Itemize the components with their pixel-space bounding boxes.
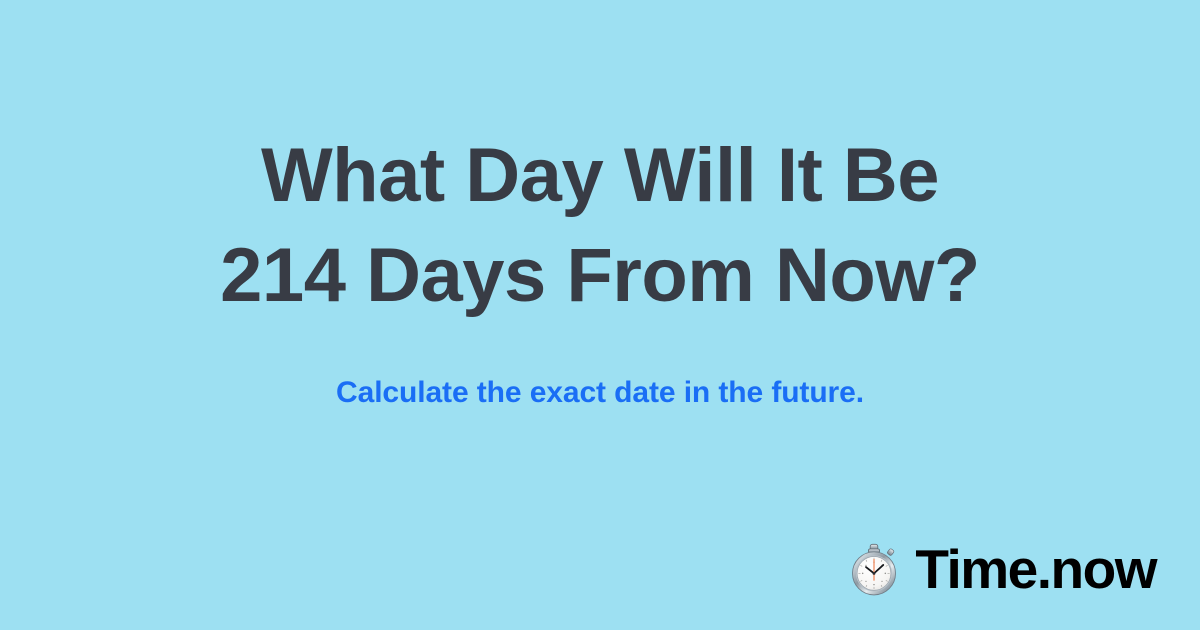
page-title: What Day Will It Be 214 Days From Now? (0, 126, 1200, 326)
stopwatch-icon (847, 543, 901, 597)
hero-block: What Day Will It Be 214 Days From Now? C… (0, 0, 1200, 412)
og-card: What Day Will It Be 214 Days From Now? C… (0, 0, 1200, 630)
brand-lockup[interactable]: Time.now (847, 542, 1156, 597)
page-subtitle: Calculate the exact date in the future. (0, 374, 1200, 412)
brand-name: Time.now (915, 542, 1156, 597)
